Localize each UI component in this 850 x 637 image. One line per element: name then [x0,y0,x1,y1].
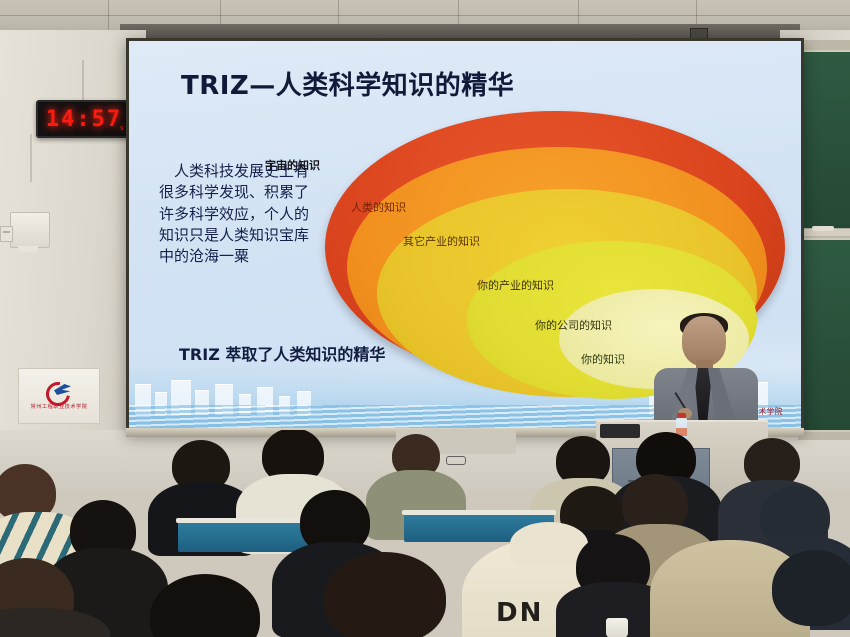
chalkboard-handle[interactable] [812,226,834,231]
power-outlet-icon [0,226,13,242]
wall-speaker-base [18,246,38,252]
ring-label-your-company: 你的公司的知识 [535,317,612,333]
slide-left-paragraph: 人类科技发展史上有很多科学发现、积累了许多科学效应，个人的知识只是人类知识宝库中… [159,161,309,267]
ring-label-your-industry: 你的产业的知识 [477,277,554,293]
classroom-background: 14:57 s 常州工程职业技术学院 [0,0,850,637]
slide-title: TRIZ—人类科学知识的精华 [181,65,514,102]
eyeglasses-icon [446,456,466,465]
hoodie-back-text: DN [496,598,543,628]
institution-plaque: 常州工程职业技术学院 [18,368,100,424]
slide-caption: TRIZ 萃取了人类知识的精华 [179,341,385,365]
paper-cup [606,618,628,637]
digital-wall-clock: 14:57 s [36,100,132,138]
lecture-hall-photo: 14:57 s 常州工程职业技术学院 [0,0,850,637]
school-logo-icon [46,382,72,400]
audience-seating: DN [0,430,850,637]
ring-label-your-knowledge: 你的知识 [581,351,625,367]
ring-label-universe: 宇宙的知识 [265,157,320,173]
presenter-head [682,316,726,366]
chalkboard-panel-upper [801,50,850,234]
clock-seconds-indicator: s [120,124,124,132]
clock-time-display: 14:57 [38,107,130,132]
clock-cable [82,60,84,102]
chalkboard-panel-lower [801,238,850,432]
wall-cable [30,134,32,182]
ring-label-humanity: 人类的知识 [351,199,406,215]
wall-mounted-speaker [10,212,50,248]
ring-label-other-industry: 其它产业的知识 [403,233,480,249]
